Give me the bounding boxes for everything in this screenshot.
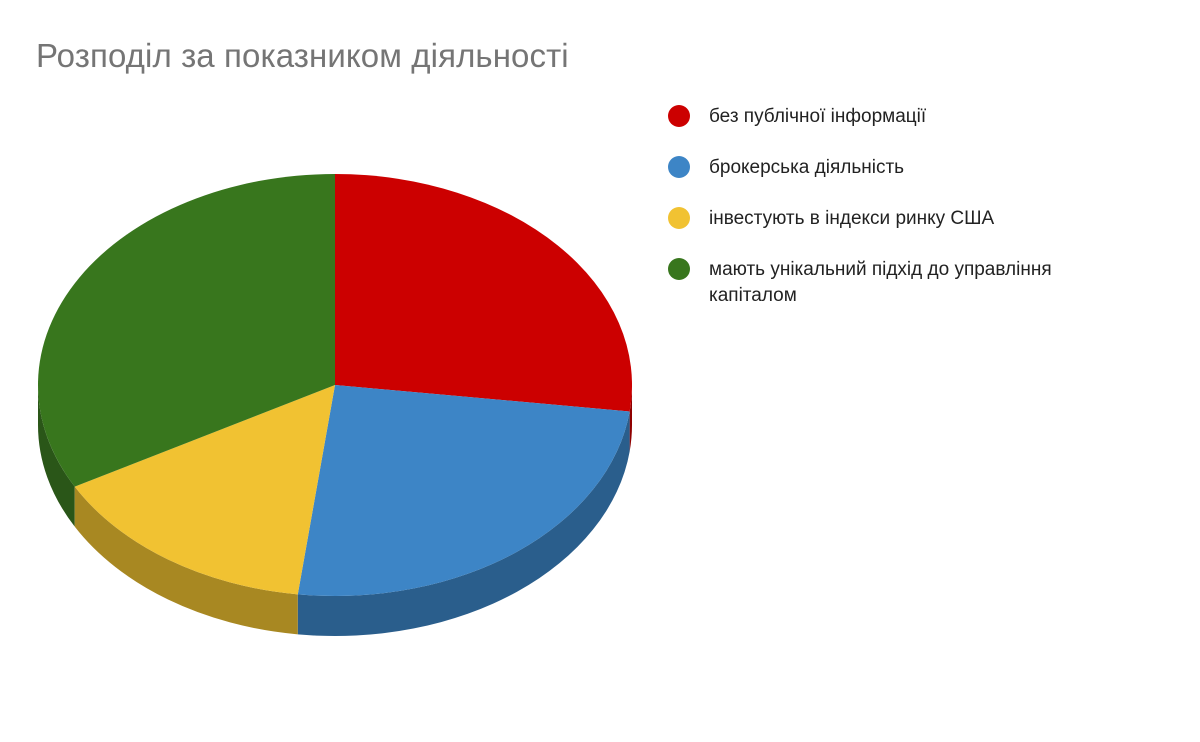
legend-item-1[interactable]: брокерська діяльність	[668, 155, 1188, 181]
legend-swatch-icon-0	[668, 105, 690, 127]
pie-top-faces: без публічної інформації: 27%брокерська …	[38, 174, 632, 596]
legend-item-0[interactable]: без публічної інформації	[668, 104, 1188, 130]
legend-label-1: брокерська діяльність	[709, 155, 904, 181]
legend-item-2[interactable]: інвестують в індекси ринку США	[668, 206, 1188, 232]
legend-swatch-icon-1	[668, 156, 690, 178]
pie-chart-figure: Розподіл за показником діяльності без пу…	[0, 0, 1200, 742]
legend-label-2: інвестують в індекси ринку США	[709, 206, 994, 232]
legend-swatch-icon-2	[668, 207, 690, 229]
chart-legend: без публічної інформації брокерська діял…	[668, 104, 1188, 334]
pie-plot-area: без публічної інформації: 27%брокерська …	[0, 0, 660, 742]
pie-slice-0[interactable]: без публічної інформації: 27%	[335, 174, 632, 411]
legend-item-3[interactable]: мають унікальний підхід до управління ка…	[668, 257, 1188, 309]
legend-swatch-icon-3	[668, 258, 690, 280]
pie-slice-1[interactable]: брокерська діяльність: 25%	[298, 385, 630, 596]
pie-svg: без публічної інформації: 27%брокерська …	[0, 0, 660, 742]
legend-label-0: без публічної інформації	[709, 104, 926, 130]
legend-label-3: мають унікальний підхід до управління ка…	[709, 257, 1052, 309]
